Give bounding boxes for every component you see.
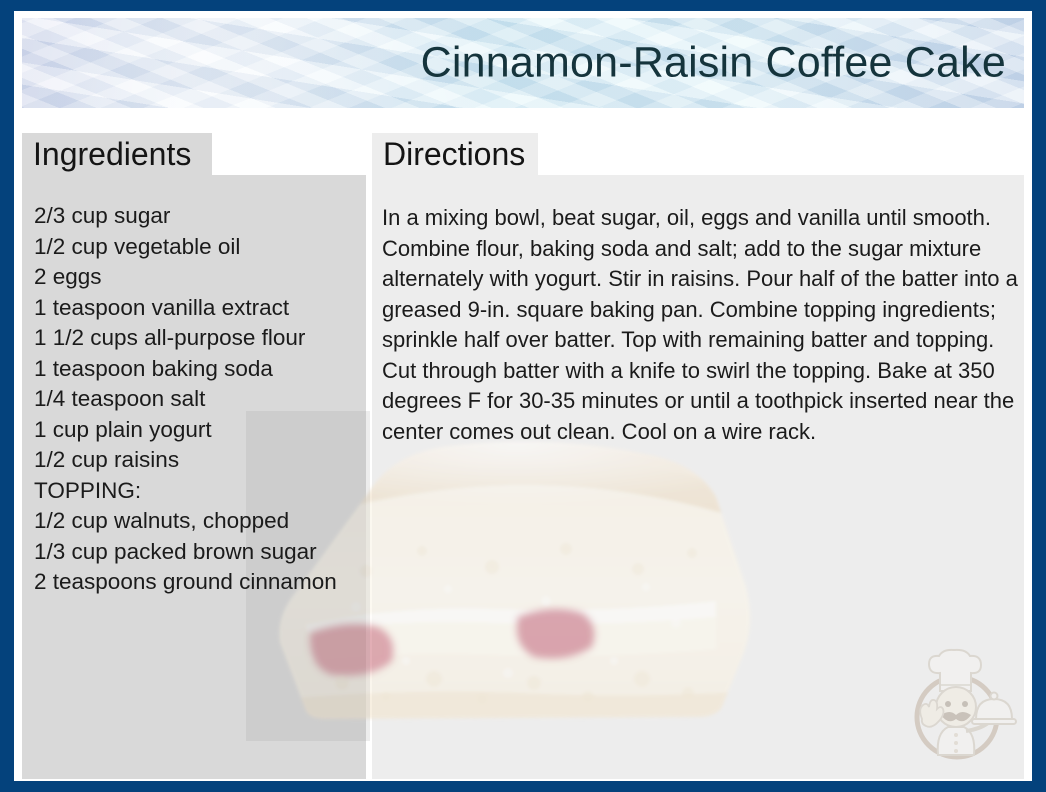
list-item: 1/2 cup walnuts, chopped: [34, 506, 364, 537]
list-item: 1/2 cup vegetable oil: [34, 232, 364, 263]
ingredients-list: 2/3 cup sugar 1/2 cup vegetable oil 2 eg…: [34, 201, 364, 598]
page-title: Cinnamon-Raisin Coffee Cake: [421, 39, 1006, 88]
list-item: 1/3 cup packed brown sugar: [34, 537, 364, 568]
list-item: 1 teaspoon vanilla extract: [34, 293, 364, 324]
section-heading-ingredients: Ingredients: [22, 133, 212, 175]
recipe-page: Cinnamon-Raisin Coffee Cake: [14, 11, 1032, 781]
section-heading-directions: Directions: [372, 133, 538, 175]
list-item: 1 teaspoon baking soda: [34, 354, 364, 385]
list-item: TOPPING:: [34, 476, 364, 507]
directions-text: In a mixing bowl, beat sugar, oil, eggs …: [382, 203, 1030, 447]
list-item: 1 1/2 cups all-purpose flour: [34, 323, 364, 354]
list-item: 1/2 cup raisins: [34, 445, 364, 476]
list-item: 1 cup plain yogurt: [34, 415, 364, 446]
recipe-card: Cinnamon-Raisin Coffee Cake: [0, 0, 1046, 792]
list-item: 2 teaspoons ground cinnamon: [34, 567, 364, 598]
list-item: 2 eggs: [34, 262, 364, 293]
list-item: 2/3 cup sugar: [34, 201, 364, 232]
list-item: 1/4 teaspoon salt: [34, 384, 364, 415]
title-banner: Cinnamon-Raisin Coffee Cake: [22, 18, 1024, 108]
